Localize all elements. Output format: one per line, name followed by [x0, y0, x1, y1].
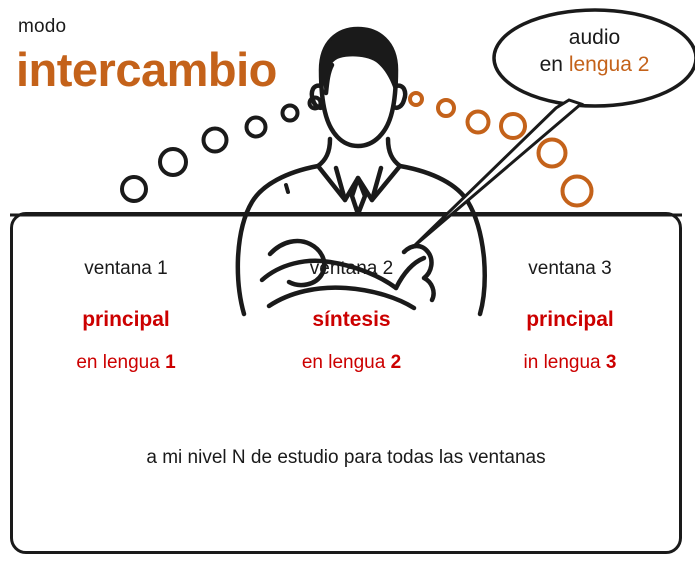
column-2-heading: ventana 2: [251, 258, 452, 280]
column-1-heading: ventana 1: [20, 258, 232, 280]
speech-bubble-line-2: en lengua 2: [512, 51, 677, 78]
column-1-language: en lengua 1: [20, 352, 232, 374]
column-3-language-prefix: in lengua: [524, 352, 606, 373]
column-1-language-number: 1: [165, 352, 176, 373]
column-3-heading: ventana 3: [468, 258, 672, 280]
speech-bubble-line-1: audio: [512, 24, 677, 51]
column-2-role: síntesis: [251, 308, 452, 332]
column-3-language: in lengua 3: [468, 352, 672, 374]
speech-bubble-text: audio en lengua 2: [512, 24, 677, 79]
column-2-language-number: 2: [391, 352, 402, 373]
column-2-language-prefix: en lengua: [302, 352, 391, 373]
panel-footer-note: a mi nivel N de estudio para todas las v…: [10, 447, 682, 469]
column-2-language: en lengua 2: [251, 352, 452, 374]
column-1-language-prefix: en lengua: [76, 352, 165, 373]
speech-bubble-line-2-prefix: en: [540, 53, 569, 76]
diagram-canvas: modo intercambio: [0, 0, 695, 571]
speech-bubble-line-2-accent: lengua 2: [569, 53, 650, 76]
column-1-role: principal: [20, 308, 232, 332]
column-3-role: principal: [468, 308, 672, 332]
column-3-language-number: 3: [606, 352, 617, 373]
